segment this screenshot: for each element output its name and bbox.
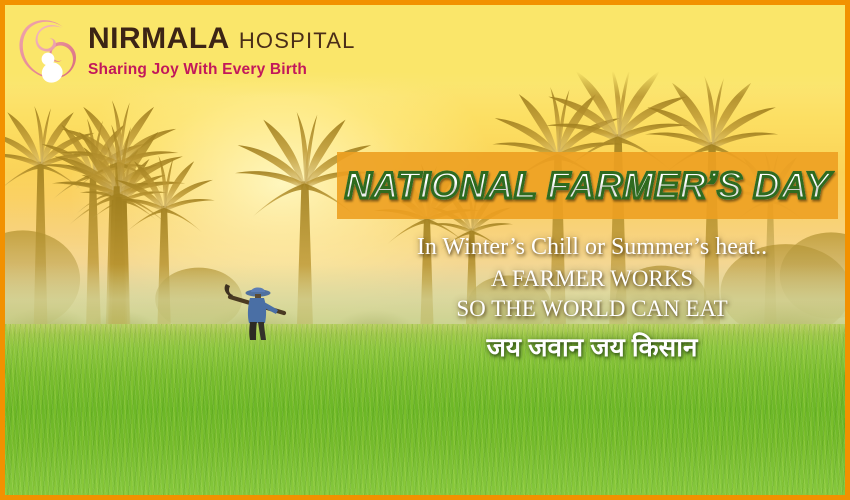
farmer-leg-left	[249, 322, 257, 340]
quote-block: In Winter’s Chill or Summer’s heat.. A F…	[357, 233, 827, 364]
brand-row: NIRMALA HOSPITAL	[88, 24, 356, 54]
page-title: NATIONAL FARMER’S DAY	[345, 165, 830, 207]
mother-and-baby-spiral-logo-icon	[18, 15, 80, 87]
logo-baby-head	[42, 53, 55, 66]
title-band: NATIONAL FARMER’S DAY	[337, 152, 838, 219]
national-farmers-day-banner: NIRMALA HOSPITAL Sharing Joy With Every …	[0, 0, 850, 500]
hospital-header: NIRMALA HOSPITAL Sharing Joy With Every …	[5, 5, 845, 97]
quote-line-1: In Winter’s Chill or Summer’s heat..	[357, 233, 827, 261]
quote-line-3: SO THE WORLD CAN EAT	[357, 294, 827, 323]
quote-line-4-hindi: जय जवान जय किसान	[357, 328, 827, 364]
quote-line-2: A FARMER WORKS	[357, 264, 827, 293]
logo-inner-swirl	[36, 25, 62, 52]
hospital-tagline: Sharing Joy With Every Birth	[88, 62, 356, 78]
farmer-leg-right	[258, 322, 266, 340]
brand-type: HOSPITAL	[239, 30, 356, 52]
farmer-hat-crown	[251, 288, 265, 293]
hospital-wordmark: NIRMALA HOSPITAL Sharing Joy With Every …	[88, 24, 356, 78]
brand-name: NIRMALA	[88, 24, 230, 54]
hoe-blade	[225, 284, 233, 297]
logo-baby-body	[42, 62, 63, 82]
farmer-figure	[218, 277, 296, 341]
